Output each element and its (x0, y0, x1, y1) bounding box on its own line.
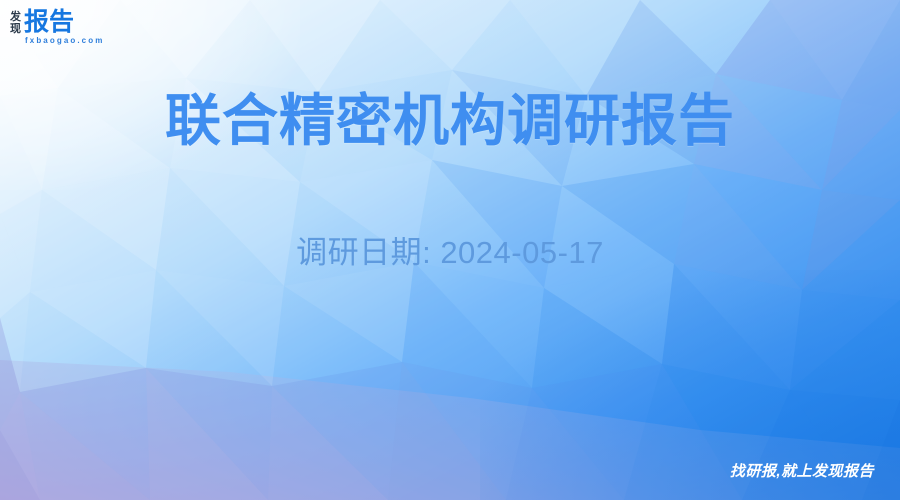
logo-mark-line1: 发 (10, 11, 21, 23)
page-title: 联合精密机构调研报告 (0, 86, 900, 156)
logo-url: fxbaogao.com (25, 36, 104, 46)
logo-mark: 发 现 (10, 9, 21, 35)
site-logo[interactable]: 发 现 报告 fxbaogao.com (10, 9, 104, 46)
report-cover: 发 现 报告 fxbaogao.com 联合精密机构调研报告 调研日期: 202… (0, 0, 900, 500)
footer-tagline: 找研报,就上发现报告 (730, 462, 874, 482)
logo-text-group: 报告 fxbaogao.com (24, 9, 104, 46)
logo-wordmark: 报告 (24, 9, 104, 35)
logo-mark-line2: 现 (10, 23, 21, 35)
survey-date-line: 调研日期: 2024-05-17 (0, 232, 900, 274)
